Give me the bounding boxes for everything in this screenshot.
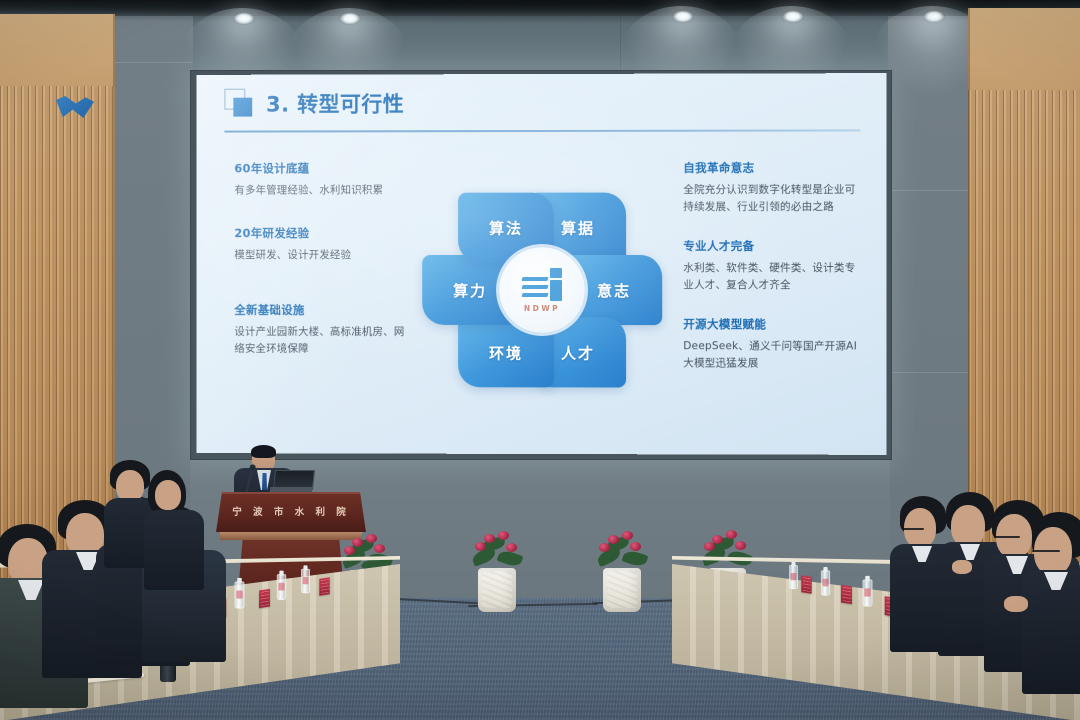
bullet-block: 全新基础设施 设计产业园新大楼、高标准机房、网络安全环境保障 xyxy=(234,302,409,358)
bullet-block: 60年设计底蕴 有多年管理经验、水利知识积累 xyxy=(234,160,409,199)
slide-title: 3. 转型可行性 xyxy=(266,88,404,118)
center-logo: NDWP xyxy=(499,247,585,333)
petal-label: 算法 xyxy=(489,217,523,238)
bullet-body: DeepSeek、通义千问等国产开源AI大模型迅猛发展 xyxy=(683,338,860,372)
bullet-heading: 自我革命意志 xyxy=(683,160,860,176)
water-bottle xyxy=(235,582,245,609)
bullet-heading: 开源大模型赋能 xyxy=(683,316,860,332)
two-squares-icon xyxy=(224,89,254,119)
ceiling-light xyxy=(923,10,945,23)
wood-panel-top-left xyxy=(0,14,115,86)
speaker-tie xyxy=(262,473,267,490)
speaker-hair xyxy=(251,445,276,458)
wall-seam-right-2 xyxy=(888,372,970,373)
petal-label: 算据 xyxy=(561,217,595,238)
bullet-body: 设计产业园新大楼、高标准机房、网络安全环境保障 xyxy=(234,324,409,358)
bullet-body: 水利类、软件类、硬件类、设计类专业人才、复合人才齐全 xyxy=(683,260,860,294)
water-bottle xyxy=(821,570,830,595)
plant-pot xyxy=(478,568,516,612)
ceiling-light xyxy=(233,12,255,25)
hexagonal-petal-diagram: 算据 意志 人才 环境 算力 算法 NDWP xyxy=(417,166,667,414)
bullet-block: 开源大模型赋能 DeepSeek、通义千问等国产开源AI大模型迅猛发展 xyxy=(683,316,860,372)
ceiling-light xyxy=(339,12,361,25)
potted-plant xyxy=(595,528,649,612)
wood-panel-top-right xyxy=(968,8,1080,90)
bullet-heading: 20年研发经验 xyxy=(234,225,409,241)
wall-seam-left xyxy=(115,62,193,63)
wall-seam-right xyxy=(888,190,970,191)
name-card xyxy=(319,577,329,595)
conference-room-photo: 3. 转型可行性 60年设计底蕴 有多年管理经验、水利知识积累 20年研发经验 … xyxy=(0,0,1080,720)
plant-pot xyxy=(603,568,641,612)
water-bottle xyxy=(863,580,873,607)
bullet-block: 专业人才完备 水利类、软件类、硬件类、设计类专业人才、复合人才齐全 xyxy=(683,238,860,294)
water-bottle xyxy=(277,574,286,600)
bullet-block: 自我革命意志 全院充分认识到数字化转型是企业可持续发展、行业引领的必由之路 xyxy=(683,160,860,216)
podium-laptop xyxy=(270,470,312,494)
bullet-body: 有多年管理经验、水利知识积累 xyxy=(234,182,409,199)
venue-sign: 宁 波 市 水 利 院 xyxy=(216,504,366,518)
slide-title-row: 3. 转型可行性 xyxy=(224,88,404,118)
ceiling-light xyxy=(782,10,804,23)
bullet-block: 20年研发经验 模型研发、设计开发经验 xyxy=(234,225,409,264)
petal-label: 人才 xyxy=(561,342,595,363)
name-card xyxy=(259,589,270,608)
slide-right-column: 自我革命意志 全院充分认识到数字化转型是企业可持续发展、行业引领的必由之路 专业… xyxy=(683,160,860,393)
slide-left-column: 60年设计底蕴 有多年管理经验、水利知识积累 20年研发经验 模型研发、设计开发… xyxy=(234,160,409,378)
bullet-body: 全院充分认识到数字化转型是企业可持续发展、行业引领的必由之路 xyxy=(683,182,860,216)
petal-label: 意志 xyxy=(597,280,631,301)
projection-screen: 3. 转型可行性 60年设计底蕴 有多年管理经验、水利知识积累 20年研发经验 … xyxy=(197,73,887,455)
petal-label: 算力 xyxy=(453,279,487,300)
name-card xyxy=(841,585,852,604)
water-wave-logo-icon xyxy=(520,267,564,301)
bullet-body: 模型研发、设计开发经验 xyxy=(234,247,409,264)
water-bottle xyxy=(301,569,310,594)
water-bottle xyxy=(789,565,798,589)
ceiling-light xyxy=(672,10,694,23)
bullet-heading: 专业人才完备 xyxy=(683,238,860,254)
potted-plant xyxy=(470,528,524,612)
presentation-slide: 3. 转型可行性 60年设计底蕴 有多年管理经验、水利知识积累 20年研发经验 … xyxy=(197,73,887,455)
petal-label: 环境 xyxy=(489,342,523,363)
title-divider xyxy=(224,129,860,132)
name-card xyxy=(801,575,811,593)
bullet-heading: 全新基础设施 xyxy=(234,302,409,318)
logo-text: NDWP xyxy=(524,303,560,312)
bullet-heading: 60年设计底蕴 xyxy=(234,160,409,176)
